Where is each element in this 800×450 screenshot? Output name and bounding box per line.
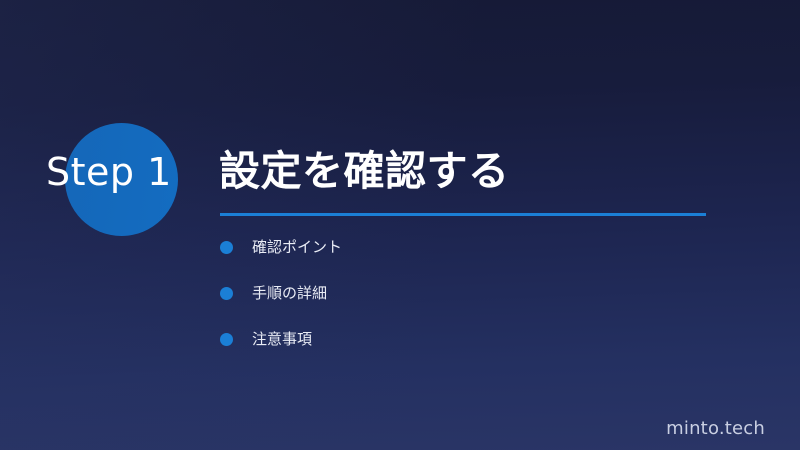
list-item: 手順の詳細 [220, 286, 342, 300]
presentation-slide: Step 1 設定を確認する 確認ポイント 手順の詳細 注意事項 minto.t… [0, 0, 800, 450]
title-divider [220, 213, 706, 216]
bullet-dot-icon [220, 287, 233, 300]
list-item: 確認ポイント [220, 240, 342, 254]
list-item-label: 注意事項 [252, 332, 312, 347]
list-item-label: 手順の詳細 [252, 286, 327, 301]
step-badge-label: Step 1 [46, 152, 172, 192]
footer-branding: minto.tech [666, 419, 765, 439]
list-item-label: 確認ポイント [252, 240, 342, 255]
bullet-dot-icon [220, 241, 233, 254]
bullet-list: 確認ポイント 手順の詳細 注意事項 [220, 240, 342, 346]
list-item: 注意事項 [220, 332, 342, 346]
bullet-dot-icon [220, 333, 233, 346]
slide-title: 設定を確認する [219, 147, 510, 195]
